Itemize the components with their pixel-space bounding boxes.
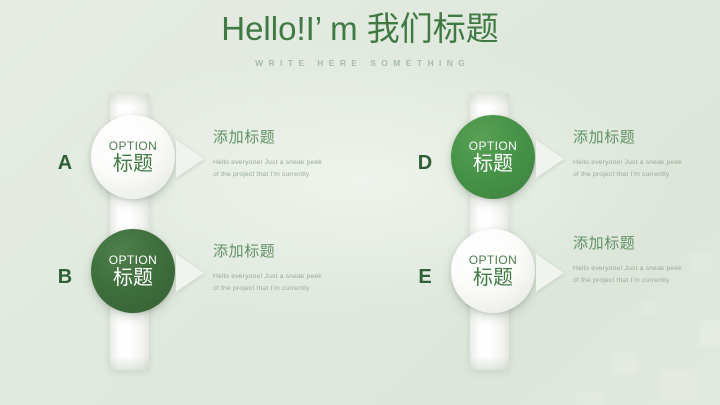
option-circle-cn-label-b: 标题 xyxy=(113,266,153,290)
option-circle-cn-label-d: 标题 xyxy=(473,152,513,176)
option-heading-b: 添加标题 xyxy=(213,242,353,262)
option-circle-cn-label-a: 标题 xyxy=(113,152,153,176)
option-letter-e: E xyxy=(412,265,438,289)
option-circle-b[interactable]: OPTION 标题 xyxy=(91,229,175,313)
option-body-line-1-a: Hello everyone! Just a sneak peek xyxy=(213,157,353,169)
option-body-e: Hello everyone! Just a sneak peek of the… xyxy=(573,263,713,286)
option-row-d[interactable]: D OPTION 标题 添加标题 Hello everyone! Just a … xyxy=(360,110,720,230)
option-circle-label-b: OPTION xyxy=(109,253,157,267)
slide-canvas: Hello!I’ m 我们标题 WRITE HERE SOMETHING A O… xyxy=(0,0,720,405)
option-heading-d: 添加标题 xyxy=(573,128,713,148)
option-circle-label-e: OPTION xyxy=(469,253,517,267)
option-text-block-b: 添加标题 Hello everyone! Just a sneak peek o… xyxy=(213,242,353,294)
option-row-b[interactable]: B OPTION 标题 添加标题 Hello everyone! Just a … xyxy=(0,224,360,344)
option-letter-d: D xyxy=(412,151,438,175)
option-body-b: Hello everyone! Just a sneak peek of the… xyxy=(213,271,353,294)
option-circle-d[interactable]: OPTION 标题 xyxy=(451,115,535,199)
arrow-right-icon-e xyxy=(536,254,564,292)
option-body-line-1-b: Hello everyone! Just a sneak peek xyxy=(213,271,353,283)
option-circle-label-a: OPTION xyxy=(109,139,157,153)
option-body-line-2-a: of the project that I’m currently xyxy=(213,169,353,181)
arrow-right-icon-a xyxy=(176,140,204,178)
left-column: A OPTION 标题 添加标题 Hello everyone! Just a … xyxy=(0,0,360,405)
arrow-right-icon-b xyxy=(176,254,204,292)
option-text-block-e: 添加标题 Hello everyone! Just a sneak peek o… xyxy=(573,234,713,286)
option-body-line-2-d: of the project that I’m currently xyxy=(573,169,713,181)
option-text-block-d: 添加标题 Hello everyone! Just a sneak peek o… xyxy=(573,128,713,180)
option-row-a[interactable]: A OPTION 标题 添加标题 Hello everyone! Just a … xyxy=(0,110,360,230)
option-body-line-2-b: of the project that I’m currently xyxy=(213,283,353,295)
option-row-e[interactable]: E OPTION 标题 添加标题 Hello everyone! Just a … xyxy=(360,224,720,344)
option-body-line-2-e: of the project that I’m currently xyxy=(573,275,713,287)
option-body-a: Hello everyone! Just a sneak peek of the… xyxy=(213,157,353,180)
option-heading-a: 添加标题 xyxy=(213,128,353,148)
option-circle-a[interactable]: OPTION 标题 xyxy=(91,115,175,199)
option-heading-e: 添加标题 xyxy=(573,234,713,254)
arrow-right-icon-d xyxy=(536,140,564,178)
option-body-d: Hello everyone! Just a sneak peek of the… xyxy=(573,157,713,180)
option-letter-b: B xyxy=(52,265,78,289)
option-body-line-1-d: Hello everyone! Just a sneak peek xyxy=(573,157,713,169)
right-column: D OPTION 标题 添加标题 Hello everyone! Just a … xyxy=(360,0,720,405)
option-text-block-a: 添加标题 Hello everyone! Just a sneak peek o… xyxy=(213,128,353,180)
option-letter-a: A xyxy=(52,151,78,175)
option-circle-cn-label-e: 标题 xyxy=(473,266,513,290)
option-body-line-1-e: Hello everyone! Just a sneak peek xyxy=(573,263,713,275)
option-circle-label-d: OPTION xyxy=(469,139,517,153)
option-circle-e[interactable]: OPTION 标题 xyxy=(451,229,535,313)
